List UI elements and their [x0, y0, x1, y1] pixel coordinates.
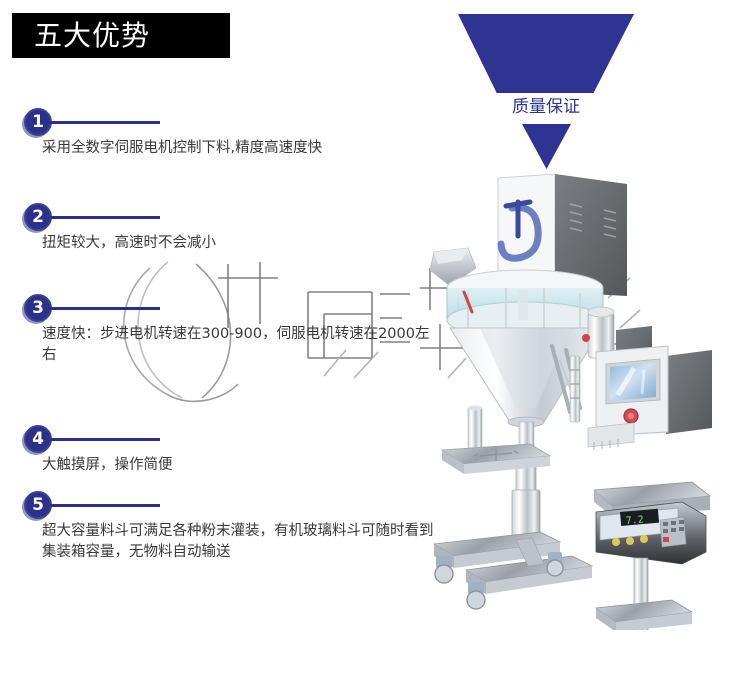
svg-text:7.2: 7.2 — [625, 514, 644, 527]
feature-number-badge: 1 — [24, 108, 52, 136]
feature-badge-row: 5 — [0, 491, 440, 521]
feature-item: 4 大触摸屏，操作简便 — [0, 425, 440, 455]
feature-badge-row: 1 — [0, 108, 440, 138]
header-banner: 五大优势 — [12, 13, 230, 58]
feature-badge-row: 4 — [0, 425, 440, 455]
feature-rule — [50, 307, 160, 310]
feature-rule — [50, 216, 160, 219]
page-title: 五大优势 — [34, 20, 150, 52]
feature-item: 5 超大容量料斗可满足各种粉末灌装，有机玻璃料斗可随时看到集装箱容量，无物料自动… — [0, 491, 440, 521]
weighing-scale: 7.2 — [594, 482, 710, 630]
page-root: 五大优势 — [0, 0, 750, 677]
feature-item: 1 采用全数字伺服电机控制下料,精度高速度快 — [0, 108, 440, 138]
feature-rule — [50, 121, 160, 124]
feature-text: 扭矩较大，高速时不会减小 — [42, 233, 434, 254]
feature-number-badge: 3 — [24, 294, 52, 322]
feature-item: 3 速度快：步进电机转速在300-900，伺服电机转速在2000左右 — [0, 294, 440, 324]
feature-item: 2 扭矩较大，高速时不会减小 — [0, 203, 440, 233]
machine-illustration: 7.2 — [420, 160, 750, 630]
feature-badge-row: 2 — [0, 203, 440, 233]
quality-badge-label: 质量保证 — [458, 95, 634, 119]
quality-badge: 质量保证 — [440, 0, 670, 180]
feature-number-badge: 2 — [24, 203, 52, 231]
feature-text: 大触摸屏，操作简便 — [42, 455, 434, 476]
feature-number-badge: 5 — [24, 491, 52, 519]
feature-rule — [50, 504, 160, 507]
feature-text: 超大容量料斗可满足各种粉末灌装，有机玻璃料斗可随时看到集装箱容量，无物料自动输送 — [42, 521, 434, 563]
feature-rule — [50, 438, 160, 441]
quality-trapezoid-shape — [458, 14, 634, 93]
feature-number-badge: 4 — [24, 425, 52, 453]
feature-text: 采用全数字伺服电机控制下料,精度高速度快 — [42, 138, 434, 159]
feature-badge-row: 3 — [0, 294, 440, 324]
feature-text: 速度快：步进电机转速在300-900，伺服电机转速在2000左右 — [42, 324, 434, 366]
